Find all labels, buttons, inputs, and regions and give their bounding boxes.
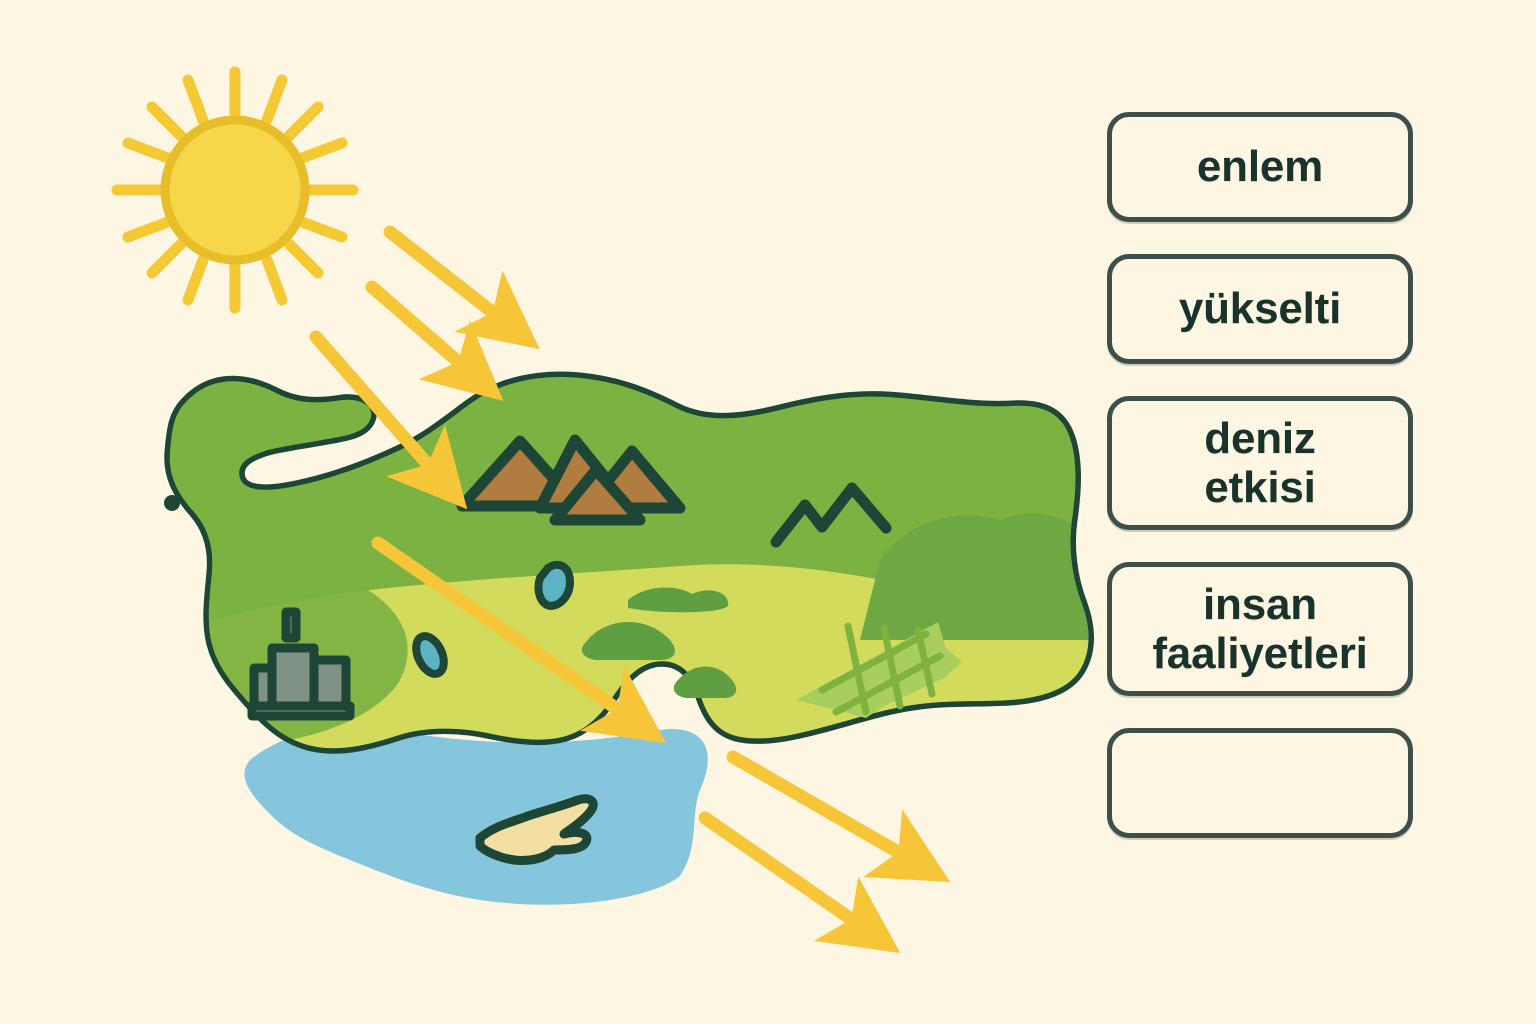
aegean-islet-icon	[164, 495, 180, 511]
sun-core	[165, 120, 305, 260]
answer-word-bank: enlem yükselti deniz etkisi insan faaliy…	[1107, 112, 1413, 838]
arrow-6	[705, 818, 864, 928]
card-yukselti-label: yükselti	[1179, 284, 1341, 333]
sea-shape	[244, 729, 707, 905]
illustration-stage: enlem yükselti deniz etkisi insan faaliy…	[0, 0, 1536, 1024]
card-insan-faaliyetleri-label: insan faaliyetleri	[1152, 580, 1367, 679]
arrow-1	[390, 232, 505, 322]
card-deniz-etkisi-label: deniz etkisi	[1204, 414, 1315, 513]
sea	[244, 729, 707, 905]
card-enlem-label: enlem	[1197, 142, 1323, 191]
card-insan-faaliyetleri[interactable]: insan faaliyetleri	[1107, 562, 1413, 696]
lake-large-icon	[538, 565, 570, 606]
arrow-5	[733, 757, 912, 860]
card-enlem[interactable]: enlem	[1107, 112, 1413, 222]
sun-icon	[117, 72, 353, 308]
arrow-2	[372, 287, 470, 372]
card-yukselti[interactable]: yükselti	[1107, 254, 1413, 364]
card-blank[interactable]	[1107, 728, 1413, 838]
card-deniz-etkisi[interactable]: deniz etkisi	[1107, 396, 1413, 530]
